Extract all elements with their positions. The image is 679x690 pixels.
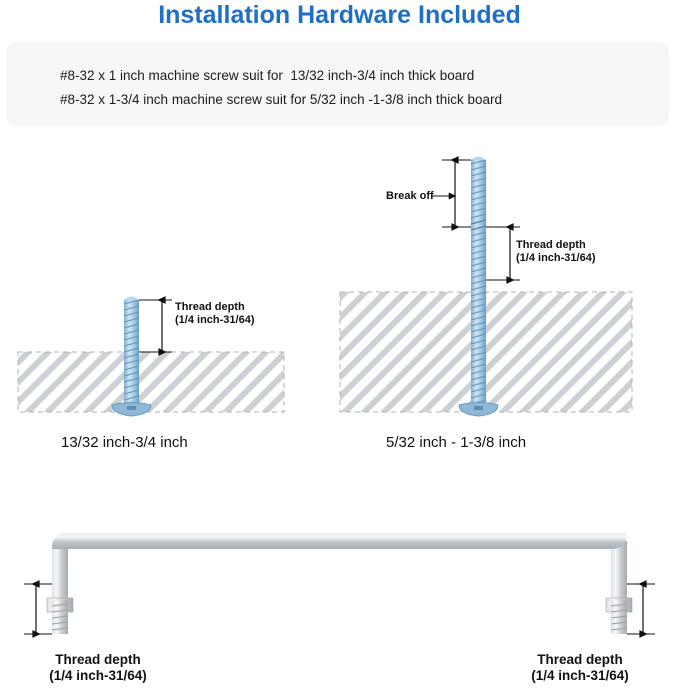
left-thread-depth-label: Thread depth(1/4 inch-31/64) [175,301,254,327]
spec-box: #8-32 x 1 inch machine screw suit for 13… [6,42,669,126]
left-screw [112,297,151,417]
left-board [18,352,284,412]
handle-left-thread-depth-label: Thread depth(1/4 inch-31/64) [18,652,178,684]
handle-right-thread-dimension [627,584,655,634]
handle-left-thread-dimension [24,584,52,634]
right-board [340,292,632,412]
page-title: Installation Hardware Included [0,0,679,30]
left-thread-depth-dimension [139,300,172,352]
spec-line-1: #8-32 x 1 inch machine screw suit for 13… [60,68,474,83]
break-off-dimension [432,160,471,227]
right-diagram-caption: 5/32 inch - 1-3/8 inch [386,434,526,451]
handle-right-thread-depth-label: Thread depth(1/4 inch-31/64) [500,652,660,684]
right-thread-depth-dimension [486,227,520,280]
left-diagram-caption: 13/32 inch-3/4 inch [61,434,188,451]
right-thread-depth-label: Thread depth(1/4 inch-31/64) [516,239,595,265]
cabinet-handle [47,533,632,634]
break-off-label: Break off [386,190,434,203]
right-screw [459,157,498,417]
spec-line-2: #8-32 x 1-3/4 inch machine screw suit fo… [60,92,502,107]
